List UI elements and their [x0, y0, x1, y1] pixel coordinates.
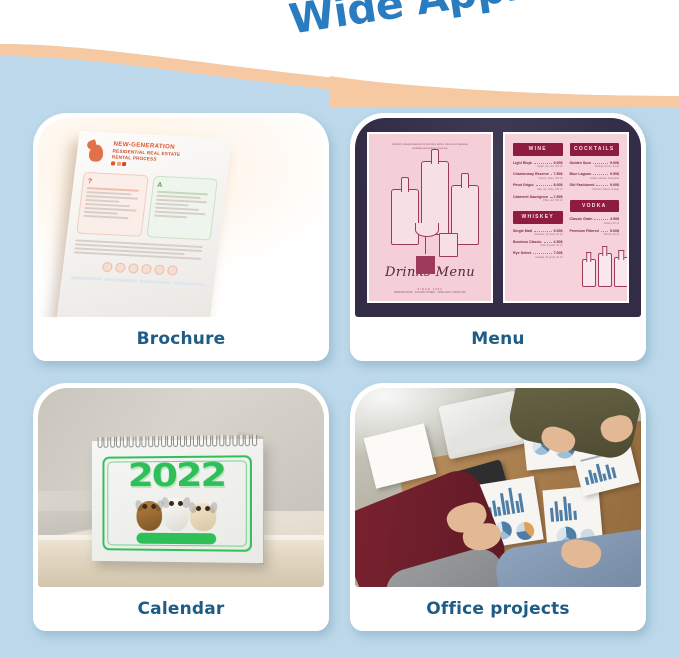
- calendar-thumbnail: 2022: [38, 388, 324, 587]
- menu-item-price: 7.50$: [554, 172, 563, 176]
- menu-item-price: 9.00$: [554, 229, 563, 233]
- menu-item-desc: whiskey, lemon, syrup: [570, 165, 620, 169]
- menu-item-desc: Chile, red, 150 ml: [513, 199, 563, 203]
- application-card-grid: NEW-GENERATION RESIDENTIAL REAL ESTATE R…: [33, 113, 646, 631]
- menu-item-name: Light Rioja: [513, 161, 532, 165]
- flyer-panel-left: ?: [76, 172, 148, 237]
- menu-item-name: Bourbon Classic: [513, 240, 542, 244]
- menu-item-price: 9.00$: [610, 183, 619, 187]
- menu-section-items: Single Malt9.00$Scotland, 12 years, 40 m…: [513, 229, 563, 263]
- card-caption-brochure: Brochure: [38, 317, 324, 361]
- menu-pages: Carefully curated selection of premium s…: [355, 118, 641, 317]
- flyer-icon-row: [72, 260, 207, 277]
- puppy-icon: [136, 501, 162, 531]
- menu-item-name: Cabernet Sauvignon: [513, 195, 548, 199]
- spiral-binding-icon: [98, 435, 257, 447]
- wide-application-page: Wide Application NEW-GENERATION RESIDENT…: [0, 0, 679, 657]
- menu-section-header: WHISKEY: [513, 211, 563, 224]
- menu-cover-footer: RESERVATIONS · 123 MAIN STREET · OPEN DA…: [369, 291, 491, 295]
- calendar-year: 2022: [92, 455, 263, 493]
- menu-item-desc: Poland, 40 ml: [570, 222, 620, 226]
- menu-column-left: WINE Light Rioja9.00$Spain, dry, red, 15…: [513, 143, 563, 292]
- calendar-green-bar: [136, 533, 216, 545]
- menu-item-price: 4.50$: [610, 217, 619, 221]
- card-menu[interactable]: Carefully curated selection of premium s…: [350, 113, 646, 361]
- menu-thumbnail: Carefully curated selection of premium s…: [355, 118, 641, 317]
- menu-item-desc: Spain, dry, red, 150 ml: [513, 165, 563, 169]
- menu-item-name: Old Fashioned: [570, 183, 595, 187]
- menu-list-page: WINE Light Rioja9.00$Spain, dry, red, 15…: [503, 132, 629, 303]
- menu-cover-title: Drinks Menu: [377, 265, 483, 280]
- tumbler-glass-icon: [439, 233, 458, 257]
- card-caption-office-projects: Office projects: [355, 587, 641, 631]
- brochure-flyer: NEW-GENERATION RESIDENTIAL REAL ESTATE R…: [56, 131, 232, 317]
- flyer-panel-right-marker: A: [157, 182, 212, 192]
- menu-bottle-illustration: [377, 155, 483, 259]
- desk-calendar: 2022: [92, 439, 263, 563]
- menu-item-desc: bourbon, bitters, orange: [570, 188, 620, 192]
- card-office-projects[interactable]: Office projects: [350, 383, 646, 631]
- menu-item-name: Blue Lagoon: [570, 172, 592, 176]
- card-calendar[interactable]: 2022 Calendar: [33, 383, 329, 631]
- menu-section-items: Classic Grain4.50$Poland, 40 ml Premium …: [570, 217, 620, 240]
- puppy-icon: [163, 498, 189, 531]
- header-banner: Wide Application: [0, 0, 679, 108]
- bottle-icon: [582, 259, 596, 287]
- calendar-puppies-photo: [125, 497, 229, 531]
- fox-mascot-icon: [85, 139, 110, 166]
- menu-item-price: 9.00$: [554, 161, 563, 165]
- menu-section-header: WINE: [513, 143, 563, 156]
- menu-item-name: Classic Grain: [570, 217, 593, 221]
- flyer-middle-text: [74, 239, 210, 259]
- menu-item-price: 7.00$: [554, 251, 563, 255]
- menu-item-name: Rye Select: [513, 251, 531, 255]
- menu-column-right: COCKTAILS Golden Sour9.00$whiskey, lemon…: [570, 143, 620, 292]
- menu-item-desc: Scotland, 12 years, 40 ml: [513, 233, 563, 237]
- menu-item-price: 7.50$: [554, 195, 563, 199]
- menu-cover-note: Carefully curated selection of premium s…: [377, 143, 483, 151]
- menu-section-items: Golden Sour9.00$whiskey, lemon, syrup Bl…: [570, 161, 620, 195]
- bottle-icon: [614, 257, 629, 287]
- card-caption-menu: Menu: [355, 317, 641, 361]
- card-brochure[interactable]: NEW-GENERATION RESIDENTIAL REAL ESTATE R…: [33, 113, 329, 361]
- office-thumbnail: [355, 388, 641, 587]
- menu-item-name: Golden Sour: [570, 161, 592, 165]
- menu-item-desc: vodka, curacao, lemonade: [570, 177, 620, 181]
- menu-item-price: 9.50$: [610, 172, 619, 176]
- menu-cover-page: Carefully curated selection of premium s…: [367, 132, 493, 303]
- flyer-panel-left-marker: ?: [87, 178, 142, 188]
- menu-item-price: 8.00$: [554, 183, 563, 187]
- menu-item-price: 9.00$: [610, 161, 619, 165]
- menu-section-items: Light Rioja9.00$Spain, dry, red, 150 ml …: [513, 161, 563, 206]
- menu-section-header: COCKTAILS: [570, 143, 620, 156]
- menu-item-desc: France, white, 150 ml: [513, 177, 563, 181]
- menu-item-desc: USA, 8 years, 40 ml: [513, 244, 563, 248]
- wine-glass-icon: [415, 223, 437, 257]
- menu-item-price: 5.00$: [610, 229, 619, 233]
- brochure-thumbnail: NEW-GENERATION RESIDENTIAL REAL ESTATE R…: [38, 118, 324, 317]
- menu-item-desc: Canada, 10 years, 40 ml: [513, 256, 563, 260]
- menu-item-desc: Russia, 40 ml: [570, 233, 620, 237]
- menu-mini-bottle-illustration: [570, 249, 620, 287]
- puppy-icon: [190, 503, 216, 531]
- menu-item-price: 4.50$: [554, 240, 563, 244]
- menu-section-header: VODKA: [570, 200, 620, 213]
- menu-item-name: Pinot Grigio: [513, 183, 534, 187]
- flyer-footer: [71, 276, 206, 286]
- bottle-icon: [598, 253, 612, 287]
- menu-item-name: Premium Filtered: [570, 229, 599, 233]
- flyer-panel-right: A: [146, 176, 218, 241]
- menu-item-desc: Italy, dry, white, 150 ml: [513, 188, 563, 192]
- menu-item-name: Chardonnay Reserve: [513, 172, 549, 176]
- card-caption-calendar: Calendar: [38, 587, 324, 631]
- menu-item-name: Single Malt: [513, 229, 532, 233]
